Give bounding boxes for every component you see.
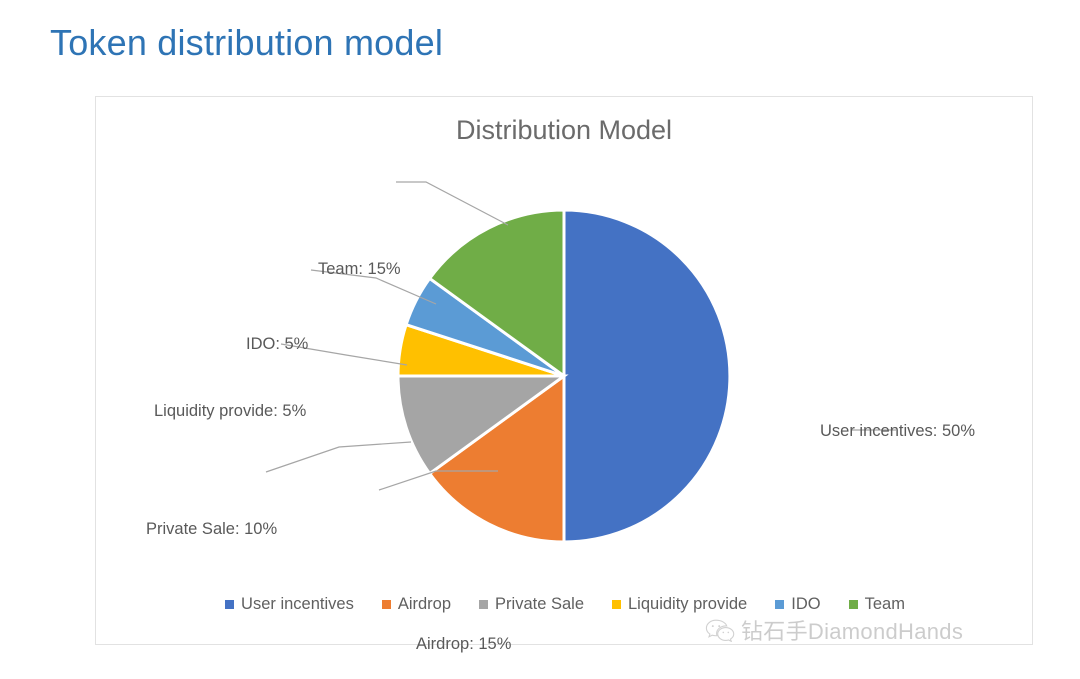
leader-line-private-sale xyxy=(266,442,411,472)
legend-label: Private Sale xyxy=(495,595,584,614)
legend-item-airdrop[interactable]: Airdrop xyxy=(382,595,451,614)
legend-swatch-icon xyxy=(775,600,784,609)
legend-swatch-icon xyxy=(612,600,621,609)
data-label-ido: IDO: 5% xyxy=(246,335,308,354)
leader-line-team xyxy=(396,182,508,225)
pie-chart-svg xyxy=(96,97,1034,646)
legend-item-liquidity-provide[interactable]: Liquidity provide xyxy=(612,595,747,614)
data-label-private-sale: Private Sale: 10% xyxy=(146,520,277,539)
legend-label: Team xyxy=(865,595,905,614)
legend-item-team[interactable]: Team xyxy=(849,595,905,614)
chart-legend[interactable]: User incentivesAirdropPrivate SaleLiquid… xyxy=(96,595,1034,614)
pie-slice-user-incentives[interactable] xyxy=(564,210,730,542)
legend-label: Liquidity provide xyxy=(628,595,747,614)
data-label-user-incentives: User incentives: 50% xyxy=(820,422,975,441)
legend-swatch-icon xyxy=(382,600,391,609)
legend-label: User incentives xyxy=(241,595,354,614)
data-label-airdrop: Airdrop: 15% xyxy=(416,635,511,654)
pie-slices-group xyxy=(398,210,730,542)
data-label-liquidity-provide: Liquidity provide: 5% xyxy=(154,402,306,421)
data-label-team: Team: 15% xyxy=(318,260,401,279)
watermark: 钻石手DiamondHands xyxy=(705,614,963,646)
legend-item-ido[interactable]: IDO xyxy=(775,595,820,614)
slide-canvas: Token distribution model Distribution Mo… xyxy=(0,0,1080,679)
pie-chart-plot-area[interactable]: User incentives: 50% Airdrop: 15% Privat… xyxy=(96,97,1034,646)
legend-item-private-sale[interactable]: Private Sale xyxy=(479,595,584,614)
legend-label: Airdrop xyxy=(398,595,451,614)
chart-container[interactable]: Distribution Model User incentives: 50% … xyxy=(95,96,1033,645)
wechat-icon xyxy=(705,618,735,642)
legend-swatch-icon xyxy=(479,600,488,609)
legend-item-user-incentives[interactable]: User incentives xyxy=(225,595,354,614)
legend-swatch-icon xyxy=(849,600,858,609)
page-title: Token distribution model xyxy=(50,22,443,64)
legend-swatch-icon xyxy=(225,600,234,609)
legend-label: IDO xyxy=(791,595,820,614)
watermark-text: 钻石手DiamondHands xyxy=(741,614,963,646)
